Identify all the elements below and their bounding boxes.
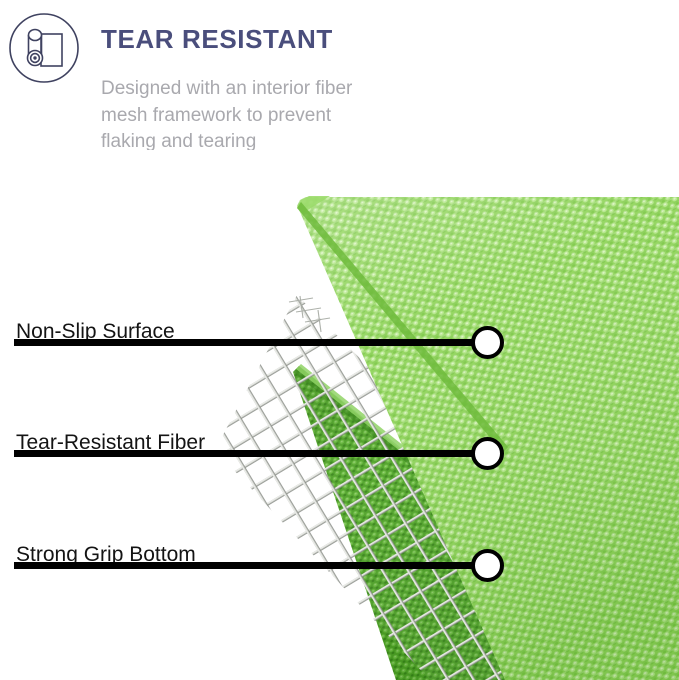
callout-non-slip-surface: Non-Slip Surface [0, 311, 679, 356]
header-block: TEAR RESISTANT Designed with an interior… [0, 0, 679, 175]
callout-leader-line [14, 562, 475, 569]
callout-marker-dot[interactable] [471, 437, 504, 470]
product-image [0, 150, 679, 680]
callout-marker-dot[interactable] [471, 326, 504, 359]
callout-leader-line [14, 339, 475, 346]
callout-leader-line [14, 450, 475, 457]
subtitle-line-1: Designed with an interior fiber [101, 76, 461, 103]
callout-strong-grip-bottom: Strong Grip Bottom [0, 534, 679, 579]
callout-marker-dot[interactable] [471, 549, 504, 582]
page-title: TEAR RESISTANT [101, 26, 333, 52]
callout-tear-resistant-fiber: Tear-Resistant Fiber [0, 422, 679, 467]
mat-illustration [0, 150, 679, 680]
infographic-canvas: TEAR RESISTANT Designed with an interior… [0, 0, 679, 680]
rolled-mat-icon [8, 12, 80, 84]
page-subtitle: Designed with an interior fiber mesh fra… [101, 76, 461, 156]
subtitle-line-2: mesh framework to prevent [101, 103, 461, 130]
